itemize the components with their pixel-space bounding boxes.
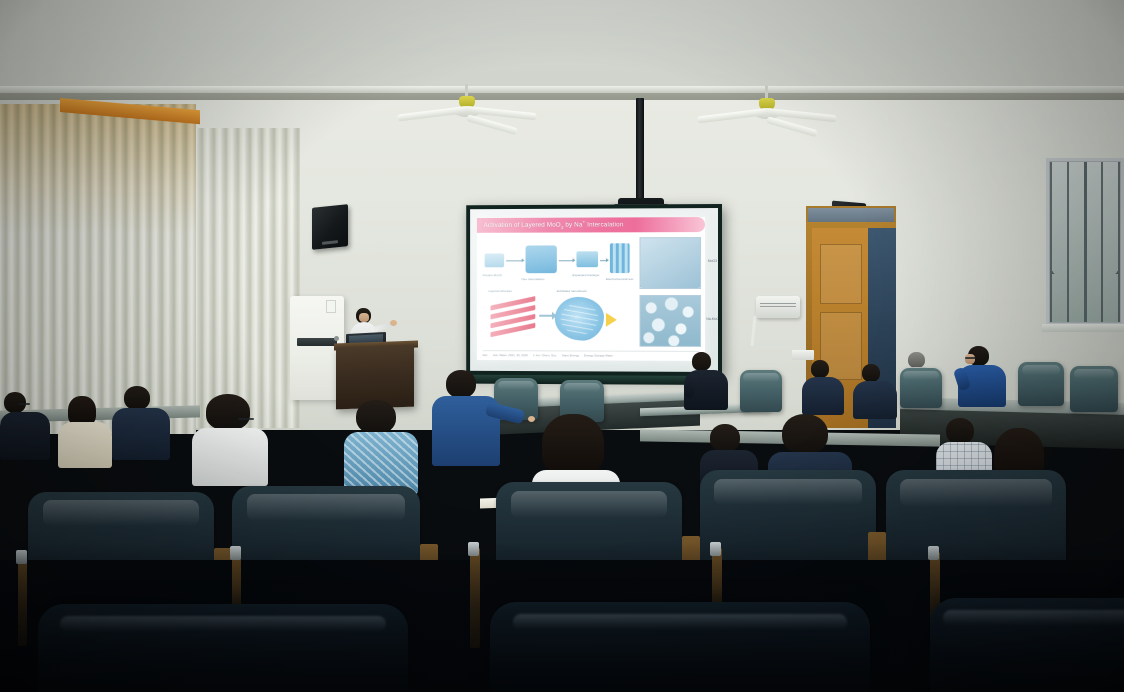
curtain-warm-light [0, 104, 196, 234]
audience-body [192, 428, 268, 486]
sem-image-intercalated [640, 295, 702, 347]
chair-sheen [900, 479, 1051, 507]
audience-member [852, 364, 898, 418]
sem-label: MoO3 [708, 259, 717, 263]
audience-member [802, 360, 846, 414]
flow-caption: Electrochemical test [606, 277, 633, 281]
chair-clip [710, 542, 721, 556]
slide-flow-diagram-bottom: Layered structure Exfoliated nanosheets [483, 293, 632, 345]
flow-node [610, 243, 630, 273]
foreground-chair[interactable] [490, 602, 870, 692]
door-panel [820, 244, 862, 304]
ceiling-fan-right [766, 86, 767, 126]
footer-ref: J. Am. Chem. Soc. [533, 353, 557, 357]
ceiling-edge-trim [0, 86, 1124, 93]
audience-head [710, 424, 740, 452]
ac-vent [760, 303, 796, 308]
audience-head [692, 352, 711, 371]
audience-member-blue-jacket [432, 370, 502, 466]
eyeglasses [965, 357, 976, 359]
light-switch-plate[interactable] [792, 350, 814, 360]
presenter-face [359, 313, 369, 322]
audience-head [811, 360, 829, 378]
audience-member [58, 396, 114, 466]
footer-ref: Nano Energy [562, 353, 579, 357]
audience-head [124, 386, 150, 410]
flow-node [526, 245, 557, 273]
chair-clip [468, 542, 479, 556]
foreground-chair[interactable] [930, 598, 1124, 692]
window-curtain-right [196, 128, 300, 428]
chair-highlight [943, 610, 1124, 626]
projector-mount-pole [636, 98, 644, 206]
ac-cabinet-vent [297, 338, 337, 346]
presentation-slide: Activation of Layered MoO3 by Na+ Interc… [477, 217, 705, 361]
footer-ref: Ref. [483, 353, 488, 357]
auditorium-chair[interactable] [1070, 366, 1118, 412]
audience-head [862, 364, 880, 382]
slide-title-bar: Activation of Layered MoO3 by Na+ Interc… [477, 217, 705, 233]
audience-body [853, 381, 897, 419]
chair-sheen [714, 479, 862, 506]
ceiling-fan-left [466, 84, 467, 124]
sem-texture [641, 296, 701, 346]
flow-node [485, 253, 504, 267]
exfoliated-nanosheet-graphic [555, 297, 604, 341]
flow-caption: Pristine MoO3 [483, 273, 502, 277]
flow-caption: Na+ intercalation [522, 277, 545, 281]
layered-structure-graphic [490, 301, 535, 339]
audience-face [965, 354, 975, 364]
audience-body [0, 412, 50, 460]
chair-sheen [1074, 369, 1114, 379]
chair-sheen [1022, 365, 1061, 375]
audience-member [684, 352, 730, 408]
nanosheet-texture [561, 303, 598, 335]
wall-speaker-left [312, 204, 348, 250]
chair-clip [230, 546, 241, 560]
slide-reference-footer: Ref. Adv. Mater. 2021, 33, 2100 J. Am. C… [483, 350, 699, 359]
chair-sheen [903, 371, 938, 380]
ceiling [0, 0, 1124, 92]
audience-body [344, 432, 418, 494]
schematic-caption: Exfoliated nanosheets [557, 289, 587, 293]
auditorium-chair[interactable] [900, 368, 942, 408]
chair-clip [928, 546, 939, 560]
chair-support-post [470, 548, 480, 648]
chair-highlight [60, 616, 386, 632]
result-arrow [606, 313, 617, 327]
audience-member-hand-on-chin [956, 346, 1008, 406]
schematic-caption: Layered structure [489, 289, 512, 293]
sem-image-pristine [640, 237, 702, 289]
chair-support-post [18, 556, 27, 646]
audience-member-patterned-shirt [344, 400, 418, 492]
audience-head [782, 414, 828, 454]
audience-member-with-cap [192, 394, 268, 484]
audience-hair [542, 414, 604, 476]
chair-sheen [743, 373, 778, 382]
slide-flow-diagram-top: Pristine MoO3 Na+ intercalation Expanded… [483, 239, 632, 287]
chair-sheen [247, 494, 405, 520]
audience-body [58, 422, 112, 468]
chair-clip [16, 550, 27, 564]
audience-head [206, 394, 250, 430]
ac-cabinet-indicator [334, 336, 339, 341]
chair-sheen [43, 500, 199, 526]
wall-notice-card [326, 300, 336, 313]
window-sill [1042, 324, 1124, 332]
audience-head [356, 400, 396, 434]
chair-sheen [564, 383, 601, 392]
audience-body [802, 377, 844, 415]
flow-node [576, 251, 598, 267]
auditorium-chair[interactable] [740, 370, 782, 412]
screen-surface: Activation of Layered MoO3 by Na+ Interc… [470, 208, 718, 372]
slide-title-text: Activation of Layered MoO3 by Na+ Interc… [484, 220, 624, 231]
sem-texture [641, 238, 701, 288]
presenter-hand [390, 320, 397, 326]
flow-arrow [600, 260, 608, 261]
footer-ref: Energy Storage Mater. [584, 353, 614, 357]
transform-arrow [539, 315, 553, 317]
audience-member [0, 392, 52, 458]
foreground-chair[interactable] [38, 604, 408, 692]
window-mullion [1084, 162, 1087, 322]
chair-sheen [498, 381, 535, 390]
auditorium-chair[interactable] [1018, 362, 1064, 406]
slide-body: Pristine MoO3 Na+ intercalation Expanded… [481, 235, 701, 349]
audience-head [446, 370, 476, 398]
footer-ref: Adv. Mater. 2021, 33, 2100 [493, 353, 528, 357]
chair-highlight [513, 614, 847, 630]
sem-label: Na-MoO3 [706, 317, 718, 321]
audience-head [908, 352, 925, 368]
eyeglasses [18, 403, 30, 405]
audience-body [112, 408, 170, 460]
flow-caption: Expanded interlayer [573, 273, 600, 277]
audience-member [112, 386, 170, 460]
flow-arrow [559, 260, 575, 261]
chair-sheen [511, 491, 667, 518]
flow-arrow [506, 260, 524, 261]
audience-head [946, 418, 974, 444]
air-conditioner-wall-unit [756, 296, 800, 318]
eyeglasses [238, 418, 254, 420]
speaker-badge [322, 240, 338, 245]
projection-screen: Activation of Layered MoO3 by Na+ Interc… [466, 204, 722, 376]
lecture-hall-photo: Activation of Layered MoO3 by Na+ Interc… [0, 0, 1124, 692]
